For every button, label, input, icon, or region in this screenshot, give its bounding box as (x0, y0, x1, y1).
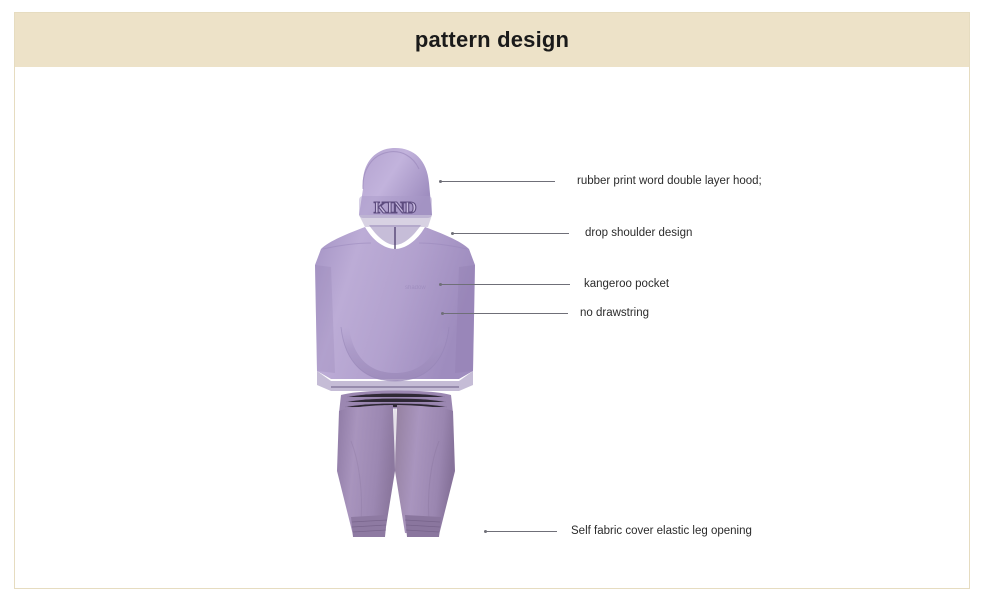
hoodie-body: shadow (315, 227, 475, 391)
chest-print: shadow (405, 285, 426, 291)
title-band: pattern design (15, 13, 969, 67)
callout-label-hood: rubber print word double layer hood; (577, 173, 762, 189)
leader-line (440, 181, 555, 182)
leader-line (485, 531, 557, 532)
leader-line (440, 284, 570, 285)
callout-label-shoulder: drop shoulder design (585, 225, 692, 241)
jogger-pants (337, 391, 455, 538)
page-frame: pattern design (14, 12, 970, 589)
leader-line (442, 313, 568, 314)
callout-label-pocket: kangeroo pocket (584, 276, 669, 292)
garment-illustration: KIND (301, 141, 521, 541)
hood-print-text: KIND (374, 198, 417, 217)
artboard: KIND (15, 67, 969, 588)
callout-label-drawstring: no drawstring (580, 305, 649, 321)
hood-shape: KIND (359, 148, 432, 227)
page-title: pattern design (415, 27, 569, 53)
leader-line (452, 233, 569, 234)
callout-label-leg-opening: Self fabric cover elastic leg opening (571, 523, 752, 539)
